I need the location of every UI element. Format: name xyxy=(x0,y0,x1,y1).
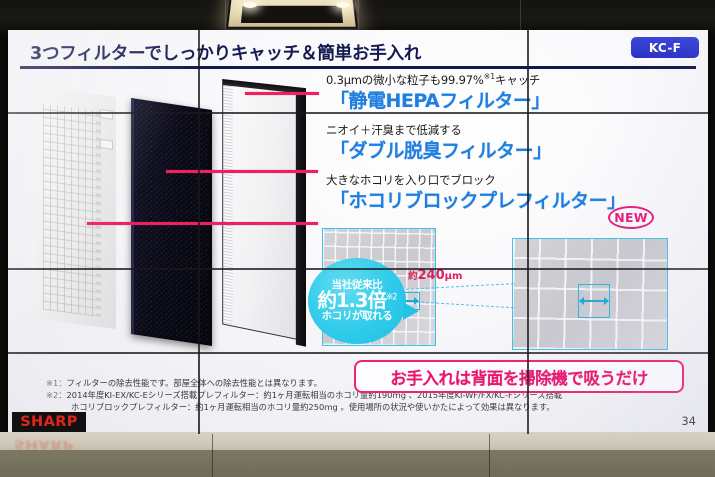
slide-canvas: 3つフィルターでしっかりキャッチ＆簡単お手入れ KC-F xyxy=(8,30,708,434)
video-wall-seam-horizontal xyxy=(8,268,708,270)
new-badge: NEW xyxy=(608,206,654,229)
table-seam xyxy=(212,434,213,477)
model-badge: KC-F xyxy=(631,37,699,58)
hepa-pleat-texture xyxy=(223,85,233,326)
prefilter-mesh-texture xyxy=(43,104,96,317)
maintenance-banner: お手入れは背面を掃除機で吸うだけ xyxy=(354,360,684,393)
balloon-line-3: ホコリが取れる xyxy=(322,311,393,322)
measurement-prefix: 約 xyxy=(408,271,418,282)
video-wall-seam-vertical xyxy=(198,30,200,434)
leader-line-hepa xyxy=(245,92,319,95)
leader-line-prefilter xyxy=(87,222,318,225)
hepa-caption-big: 「静電HEPAフィルター」 xyxy=(330,86,550,113)
electrostatic-hepa-filter-photo xyxy=(222,84,297,340)
presentation-room-photo: 3つフィルターでしっかりキャッチ＆簡単お手入れ KC-F xyxy=(0,0,715,477)
leader-line-deodorizing xyxy=(166,170,318,173)
table-front xyxy=(0,450,715,477)
hepa-frame-spine xyxy=(296,89,306,347)
sharp-logo: SHARP xyxy=(12,412,86,432)
balloon-line-2: 約1.3倍※2 xyxy=(317,291,396,311)
video-wall-seam-horizontal xyxy=(8,352,708,354)
ceiling-seam xyxy=(520,0,521,34)
measurement-label: 約240μm xyxy=(408,268,462,283)
ceiling-light-spot xyxy=(336,2,350,8)
balloon-multiplier: 約1.3倍 xyxy=(317,289,386,312)
video-wall-seam-vertical xyxy=(527,30,529,434)
page-title: 3つフィルターでしっかりキャッチ＆簡単お手入れ xyxy=(30,40,421,65)
footnote-text: ホコリブロックプレフィルター：約1ヶ月運転相当のホコリ量約250ｍg 。使用場所… xyxy=(71,402,555,412)
deodorizing-caption-big: 「ダブル脱臭フィルター」 xyxy=(330,136,552,163)
prefilter-caption-big: 「ホコリブロックプレフィルター」 xyxy=(330,186,626,213)
title-divider xyxy=(20,66,696,69)
prefilter-tab xyxy=(100,109,113,120)
video-wall-seam-horizontal xyxy=(8,112,708,114)
ceiling-seam xyxy=(358,0,359,34)
footnote-text: フィルターの除去性能です。部屋全体への除去性能とは異なります。 xyxy=(67,378,322,388)
page-number: 34 xyxy=(681,414,696,428)
prefilter-tab xyxy=(100,139,113,150)
measurement-unit: μm xyxy=(445,271,463,282)
measurement-arrow-zoomed xyxy=(580,300,608,302)
hepa-caption-tail: キャッチ xyxy=(495,73,540,87)
deodorizing-filter-edge xyxy=(131,98,134,334)
footnote-mark: ※1： xyxy=(46,378,67,388)
ceiling-seam xyxy=(225,0,226,34)
footnote-row: ホコリブロックプレフィルター：約1ヶ月運転相当のホコリ量約250ｍg 。使用場所… xyxy=(46,402,696,414)
performance-balloon: 当社従来比 約1.3倍※2 ホコリが取れる xyxy=(308,258,406,344)
dust-block-pre-filter-photo xyxy=(38,87,116,329)
hepa-filter-face xyxy=(222,84,297,340)
footnote-mark-1: ※1 xyxy=(484,72,495,81)
video-wall-display[interactable]: 3つフィルターでしっかりキャッチ＆簡単お手入れ KC-F xyxy=(8,30,708,434)
footnote-mark-2: ※2 xyxy=(386,292,397,302)
ceiling-light-spot xyxy=(243,2,257,8)
footnote-mark: ※2： xyxy=(46,390,67,400)
measurement-value: 240 xyxy=(418,268,445,283)
sharp-logo-reflection: SHARP xyxy=(14,437,74,452)
sharp-logo-text: SHARP xyxy=(20,414,78,430)
table-seam xyxy=(489,434,490,477)
hepa-caption-text: 0.3μmの微小な粒子も99.97% xyxy=(326,73,484,87)
